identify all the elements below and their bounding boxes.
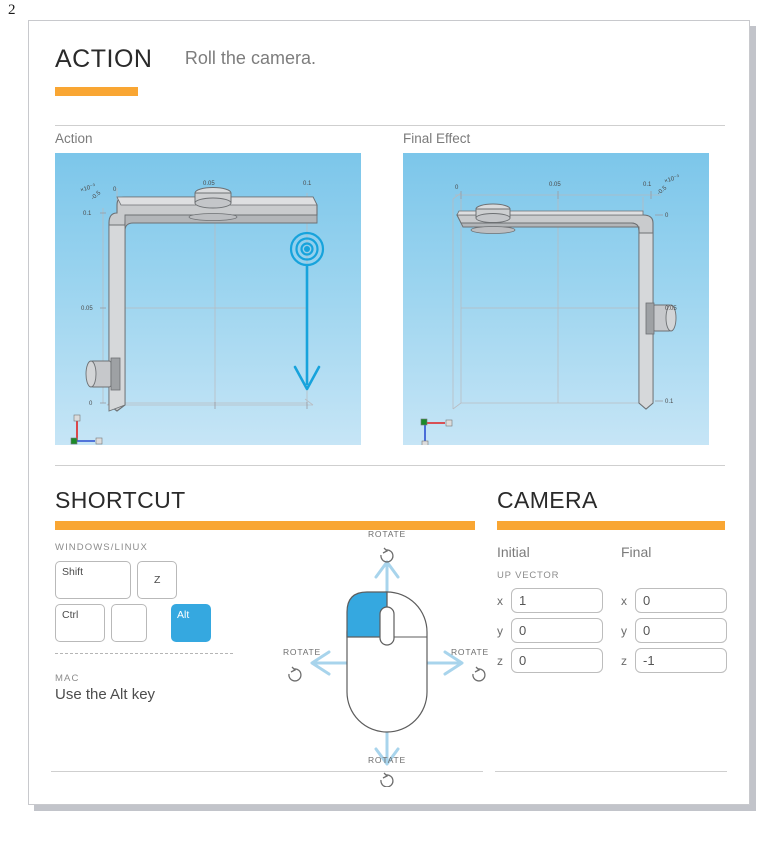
svg-text:0.05: 0.05 (549, 182, 561, 188)
svg-text:0: 0 (89, 401, 93, 407)
svg-text:0.05: 0.05 (203, 181, 215, 187)
mouse-body (347, 592, 427, 732)
mouse-scroll-wheel (380, 607, 394, 645)
mac-instruction: Use the Alt key (55, 686, 155, 703)
viewport-action[interactable]: ×10⁻³ -0.5 0.1 0 0.05 0.1 0.05 0 (55, 153, 361, 445)
svg-text:0.1: 0.1 (643, 182, 652, 188)
rotate-label-right: ROTATE (442, 647, 498, 657)
svg-text:×10⁻³: ×10⁻³ (80, 183, 96, 193)
camera-initial-label: Initial (497, 544, 530, 560)
final-effect-3d-scene: 0 0.05 0.1 ×10⁻³ -0.5 0 0.05 0.1 (403, 153, 709, 445)
section-divider (55, 465, 725, 466)
action-3d-scene: ×10⁻³ -0.5 0.1 0 0.05 0.1 0.05 0 (55, 153, 361, 445)
action-title: ACTION (55, 47, 152, 72)
svg-text:0.1: 0.1 (303, 181, 312, 187)
initial-x-axis-label: x (497, 594, 503, 608)
final-y-axis-label: y (621, 624, 627, 638)
initial-y-axis-label: y (497, 624, 503, 638)
action-accent-bar (55, 87, 138, 96)
final-z-axis-label: z (621, 654, 627, 668)
content-card: ACTION Roll the camera. Action (28, 20, 750, 805)
up-vector-label: UP VECTOR (497, 570, 559, 581)
footer-divider-left (51, 771, 483, 772)
axis-triad-icon (421, 419, 452, 445)
svg-text:0.1: 0.1 (83, 211, 92, 217)
svg-text:0.1: 0.1 (665, 399, 674, 405)
camera-title: CAMERA (497, 487, 598, 514)
header-divider (55, 125, 725, 126)
final-x-value: 0 (643, 588, 650, 613)
initial-z-axis-label: z (497, 654, 503, 668)
footer-divider-right (495, 771, 727, 772)
svg-text:-0.5: -0.5 (90, 190, 102, 202)
final-y-value: 0 (643, 618, 650, 643)
svg-text:0: 0 (665, 213, 669, 219)
page-root: 2 ACTION Roll the camera. Action (0, 0, 770, 841)
action-header: ACTION Roll the camera. (55, 47, 316, 72)
panel-label-final-effect: Final Effect (403, 131, 470, 146)
key-z-label: Z (154, 574, 160, 586)
key-blank[interactable] (111, 604, 147, 642)
mouse-diagram[interactable]: ROTATE ROTATE ROTATE ROTATE (277, 537, 497, 787)
action-description: Roll the camera. (185, 47, 316, 70)
final-z-value: -1 (643, 648, 655, 673)
mac-label: MAC (55, 673, 79, 684)
rotate-label-down: ROTATE (359, 755, 415, 765)
page-number: 2 (8, 2, 16, 19)
initial-y-value: 0 (519, 618, 526, 643)
camera-final-label: Final (621, 544, 651, 560)
shortcut-title: SHORTCUT (55, 487, 186, 514)
initial-z-value: 0 (519, 648, 526, 673)
key-shift-label: Shift (62, 566, 83, 578)
initial-x-value: 1 (519, 588, 526, 613)
final-x-axis-label: x (621, 594, 627, 608)
svg-text:×10⁻³: ×10⁻³ (664, 174, 680, 184)
shortcut-dashed-divider (55, 653, 233, 654)
svg-text:0: 0 (113, 187, 117, 193)
key-alt-label: Alt (177, 609, 189, 621)
svg-text:-0.5: -0.5 (656, 185, 668, 197)
panel-label-action: Action (55, 131, 93, 146)
mouse-svg (277, 537, 497, 787)
axis-triad-icon (71, 415, 102, 444)
windows-linux-label: WINDOWS/LINUX (55, 542, 148, 553)
viewport-final-effect[interactable]: 0 0.05 0.1 ×10⁻³ -0.5 0 0.05 0.1 (403, 153, 709, 445)
svg-text:0: 0 (455, 185, 459, 191)
svg-text:0.05: 0.05 (81, 306, 93, 312)
key-ctrl-label: Ctrl (62, 609, 78, 621)
camera-accent-bar (497, 521, 725, 530)
rotate-label-up: ROTATE (359, 529, 415, 539)
rotate-label-left: ROTATE (274, 647, 330, 657)
svg-text:0.05: 0.05 (665, 306, 677, 312)
